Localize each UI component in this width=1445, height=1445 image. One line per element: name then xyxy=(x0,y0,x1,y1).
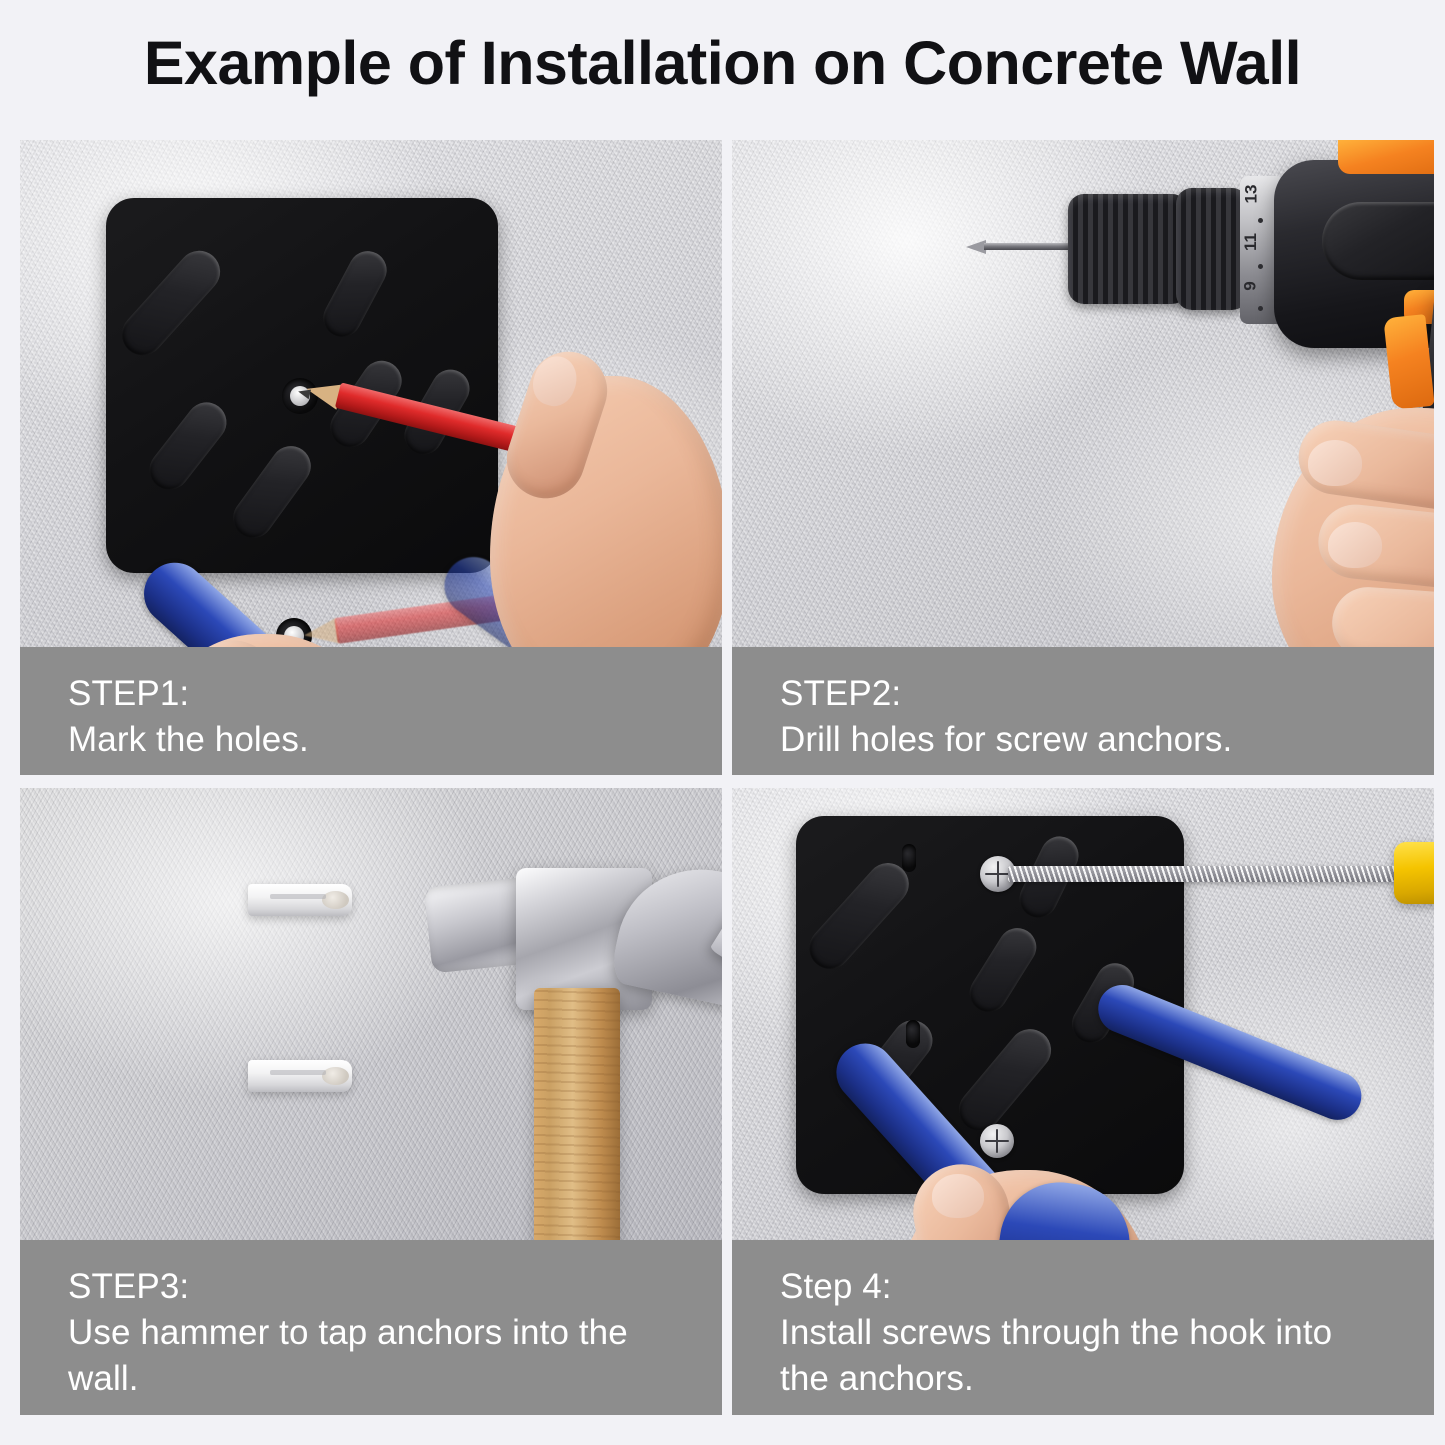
step-4-photo xyxy=(732,788,1434,1240)
clutch-dot xyxy=(1258,218,1263,223)
step-card-3: STEP3: Use hammer to tap anchors into th… xyxy=(20,788,722,1415)
drill-chuck-rear xyxy=(1176,188,1248,310)
step-3-caption: STEP3: Use hammer to tap anchors into th… xyxy=(20,1240,722,1415)
installation-guide-page: Example of Installation on Concrete Wall xyxy=(0,0,1445,1445)
step-card-1: STEP1: Mark the holes. xyxy=(20,140,722,775)
fingernail xyxy=(1308,440,1362,486)
step-1-caption: STEP1: Mark the holes. xyxy=(20,647,722,775)
clutch-number-13: 13 xyxy=(1241,185,1261,204)
step-3-label: STEP3: xyxy=(68,1264,674,1310)
step-2-photo: 13 11 9 xyxy=(732,140,1434,647)
small-vent-hole xyxy=(906,1020,920,1048)
clutch-number-9: 9 xyxy=(1241,281,1261,290)
page-title: Example of Installation on Concrete Wall xyxy=(0,28,1445,98)
anchor-slot xyxy=(270,894,326,899)
clutch-number-11: 11 xyxy=(1241,233,1261,251)
wall-anchor xyxy=(248,1060,352,1092)
step-card-4: Step 4: Install screws through the hook … xyxy=(732,788,1434,1415)
fingernail xyxy=(932,1174,984,1218)
screwdriver-shaft xyxy=(1008,866,1402,882)
step-3-text: Use hammer to tap anchors into the wall. xyxy=(68,1310,674,1402)
drill-top-accent xyxy=(1338,140,1434,174)
step-1-photo xyxy=(20,140,722,647)
drill-grip-pad xyxy=(1322,202,1434,280)
step-1-label: STEP1: xyxy=(68,671,674,717)
finger xyxy=(1330,585,1434,647)
step-4-caption: Step 4: Install screws through the hook … xyxy=(732,1240,1434,1415)
screwdriver-yellow-collar xyxy=(1394,842,1434,904)
drill-bit-tip xyxy=(966,240,986,254)
fingernail xyxy=(1328,522,1382,568)
phillips-screw xyxy=(980,1124,1014,1158)
clutch-dot xyxy=(1258,306,1263,311)
step-2-text: Drill holes for screw anchors. xyxy=(780,717,1386,763)
step-2-label: STEP2: xyxy=(780,671,1386,717)
step-4-text: Install screws through the hook into the… xyxy=(780,1310,1386,1402)
steps-grid: STEP1: Mark the holes. 13 11 9 xyxy=(20,140,1425,1416)
hammer-handle xyxy=(534,988,620,1240)
drill-chuck xyxy=(1068,194,1188,304)
step-card-2: 13 11 9 xyxy=(732,140,1434,775)
step-2-caption: STEP2: Drill holes for screw anchors. xyxy=(732,647,1434,775)
anchor-slot xyxy=(270,1070,326,1075)
clutch-dot xyxy=(1258,264,1263,269)
small-vent-hole xyxy=(902,844,916,872)
step-1-text: Mark the holes. xyxy=(68,717,674,763)
drill-trigger xyxy=(1383,314,1434,410)
wall-anchor xyxy=(248,884,352,916)
step-4-label: Step 4: xyxy=(780,1264,1386,1310)
step-3-photo xyxy=(20,788,722,1240)
